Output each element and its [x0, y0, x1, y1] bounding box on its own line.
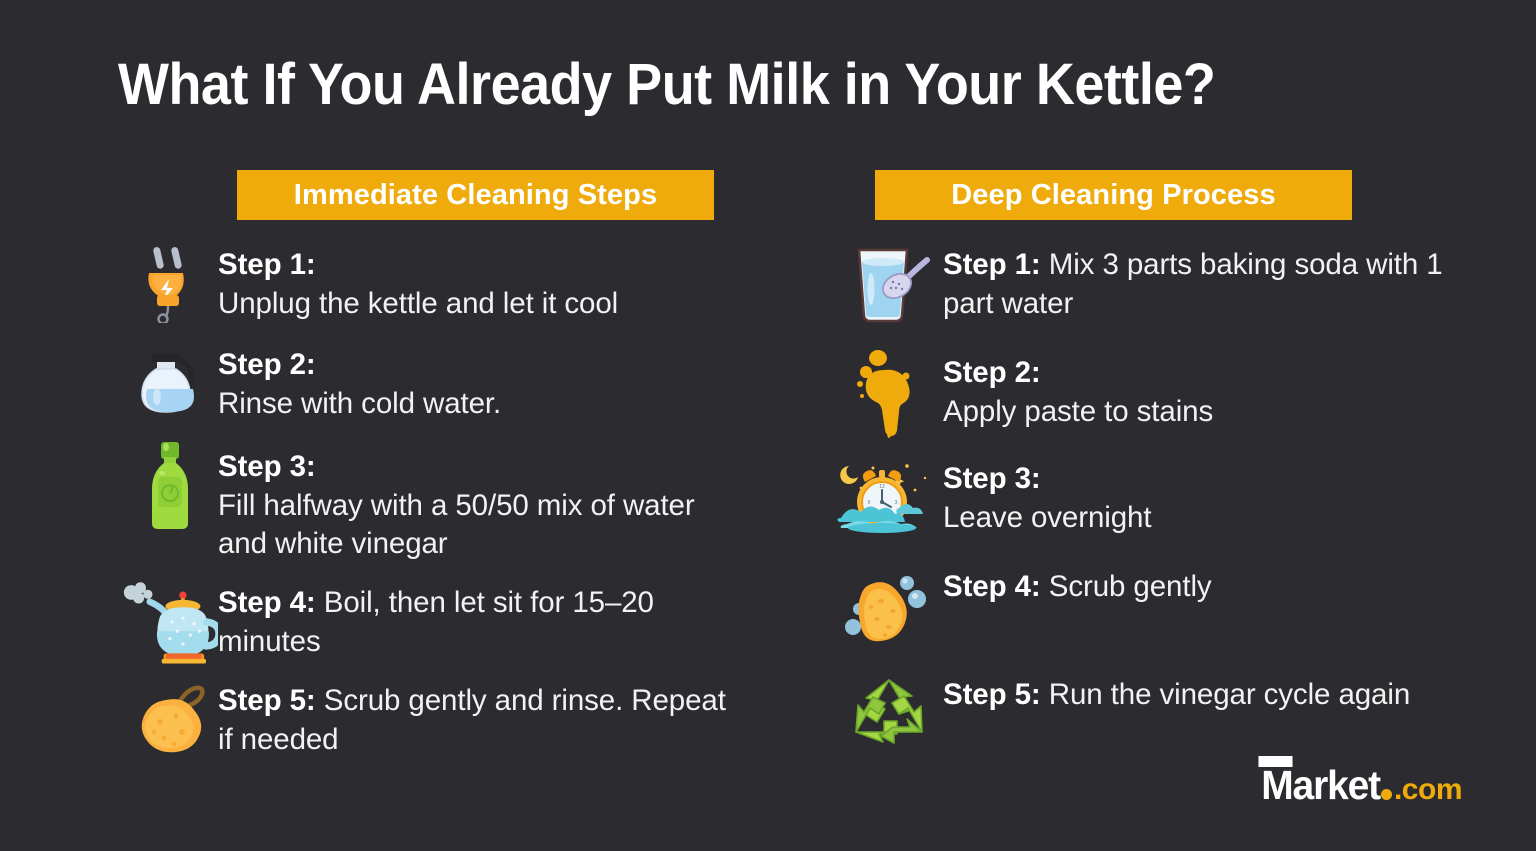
step-text: Step 3: Leave overnight — [943, 456, 1455, 537]
banner-deep-cleaning: Deep Cleaning Process — [875, 170, 1352, 220]
list-item: Step 1: Unplug the kettle and let it coo… — [122, 242, 742, 326]
night-alarm-clock-icon: 123 69 — [835, 456, 943, 540]
logo-dot-icon — [1381, 789, 1392, 800]
step-label: Step 5: — [218, 684, 316, 717]
step-text: Step 5: Run the vinegar cycle again — [943, 672, 1455, 715]
step-label: Step 1: — [943, 248, 1041, 281]
banner-immediate-cleaning: Immediate Cleaning Steps — [237, 170, 714, 220]
logo-flag-icon — [1258, 756, 1292, 767]
logo-brand-text: Market — [1261, 765, 1380, 806]
list-item: Step 4: Boil, then let sit for 15–20 min… — [122, 580, 742, 664]
step-text: Step 4: Boil, then let sit for 15–20 min… — [218, 580, 742, 661]
column-immediate-cleaning: Immediate Cleaning Steps — [122, 170, 742, 762]
step-description: Run the vinegar cycle again — [1049, 678, 1410, 711]
step-list-right: Step 1: Mix 3 parts baking soda with 1 p… — [835, 242, 1455, 756]
step-label: Step 2: — [218, 348, 316, 381]
step-text: Step 3: Fill halfway with a 50/50 mix of… — [218, 444, 742, 564]
step-description: Unplug the kettle and let it cool — [218, 287, 618, 320]
list-item: Step 5: Scrub gently and rinse. Repeat i… — [122, 678, 742, 762]
step-text: Step 2: Apply paste to stains — [943, 350, 1455, 431]
step-list-left: Step 1: Unplug the kettle and let it coo… — [122, 242, 742, 762]
step-description: Rinse with cold water. — [218, 387, 501, 420]
step-label: Step 4: — [943, 570, 1041, 603]
glass-of-water-with-spoon-icon — [835, 242, 943, 326]
list-item: 123 69 Step 3: Leave overnight — [835, 456, 1455, 540]
step-text: Step 2: Rinse with cold water. — [218, 342, 742, 423]
sponge-with-bubbles-icon — [835, 564, 943, 648]
list-item: Step 5: Run the vinegar cycle again — [835, 672, 1455, 756]
logo-suffix-label: .com — [1394, 775, 1462, 806]
step-description: Scrub gently — [1049, 570, 1212, 603]
step-text: Step 1: Mix 3 parts baking soda with 1 p… — [943, 242, 1455, 323]
page-title: What If You Already Put Milk in Your Ket… — [118, 51, 1327, 118]
steaming-teapot-icon — [122, 580, 218, 664]
step-description: Leave overnight — [943, 501, 1151, 534]
logo-brand-label: Market — [1261, 762, 1380, 808]
step-description: Apply paste to stains — [943, 395, 1213, 428]
step-text: Step 1: Unplug the kettle and let it coo… — [218, 242, 742, 323]
recycling-arrows-icon — [835, 672, 943, 756]
coffee-carafe-icon — [122, 342, 218, 426]
step-label: Step 4: — [218, 586, 316, 619]
orange-stain-splatter-icon — [835, 350, 943, 434]
step-description: Fill halfway with a 50/50 mix of water a… — [218, 489, 695, 561]
market-com-logo: Market .com — [1255, 765, 1462, 806]
column-deep-cleaning: Deep Cleaning Process — [835, 170, 1455, 756]
step-label: Step 3: — [218, 450, 316, 483]
orange-scrubber-icon — [122, 678, 218, 762]
green-vinegar-bottle-icon — [122, 444, 218, 528]
list-item: Step 2: Rinse with cold water. — [122, 342, 742, 426]
step-label: Step 5: — [943, 678, 1041, 711]
step-text: Step 4: Scrub gently — [943, 564, 1455, 607]
list-item: Step 3: Fill halfway with a 50/50 mix of… — [122, 444, 742, 564]
step-text: Step 5: Scrub gently and rinse. Repeat i… — [218, 678, 742, 759]
step-label: Step 1: — [218, 248, 316, 281]
svg-text:9: 9 — [868, 500, 871, 506]
svg-text:3: 3 — [895, 500, 898, 506]
list-item: Step 2: Apply paste to stains — [835, 350, 1455, 434]
list-item: Step 1: Mix 3 parts baking soda with 1 p… — [835, 242, 1455, 326]
step-label: Step 3: — [943, 462, 1041, 495]
step-label: Step 2: — [943, 356, 1041, 389]
infographic-canvas: What If You Already Put Milk in Your Ket… — [0, 0, 1536, 851]
list-item: Step 4: Scrub gently — [835, 564, 1455, 648]
electric-plug-icon — [122, 242, 218, 326]
